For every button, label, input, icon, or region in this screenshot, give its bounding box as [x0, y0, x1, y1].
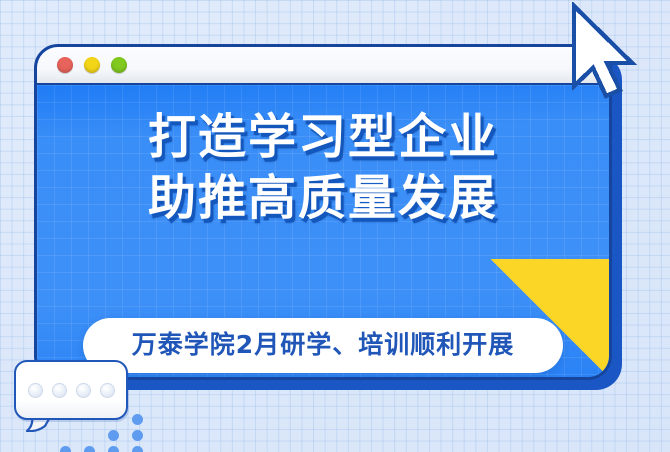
bubble-dot	[100, 383, 115, 398]
headline-line-2: 助推高质量发展	[37, 168, 609, 229]
subtitle-pill: 万泰学院2月研学、培训顺利开展	[83, 318, 563, 373]
zoom-button-icon[interactable]	[111, 57, 127, 73]
poster-canvas: 打造学习型企业 助推高质量发展 万泰学院2月研学、培训顺利开展	[0, 0, 670, 452]
polka-dot	[108, 446, 119, 452]
close-button-icon[interactable]	[57, 57, 73, 73]
polka-dot	[84, 446, 95, 452]
browser-window-card: 打造学习型企业 助推高质量发展 万泰学院2月研学、培训顺利开展	[34, 44, 612, 380]
subtitle-text: 万泰学院2月研学、培训顺利开展	[132, 330, 514, 359]
speech-bubble-icon	[14, 360, 134, 432]
window-content-area: 打造学习型企业 助推高质量发展 万泰学院2月研学、培训顺利开展	[37, 85, 609, 377]
polka-dot	[60, 446, 71, 452]
bubble-dot	[28, 383, 43, 398]
window-titlebar	[37, 47, 609, 85]
polka-dot	[132, 446, 143, 452]
headline-block: 打造学习型企业 助推高质量发展	[37, 107, 609, 230]
headline-line-1: 打造学习型企业	[37, 107, 609, 168]
bubble-dot	[52, 383, 67, 398]
bubble-dot	[76, 383, 91, 398]
speech-bubble-body	[14, 360, 128, 420]
minimize-button-icon[interactable]	[84, 57, 100, 73]
